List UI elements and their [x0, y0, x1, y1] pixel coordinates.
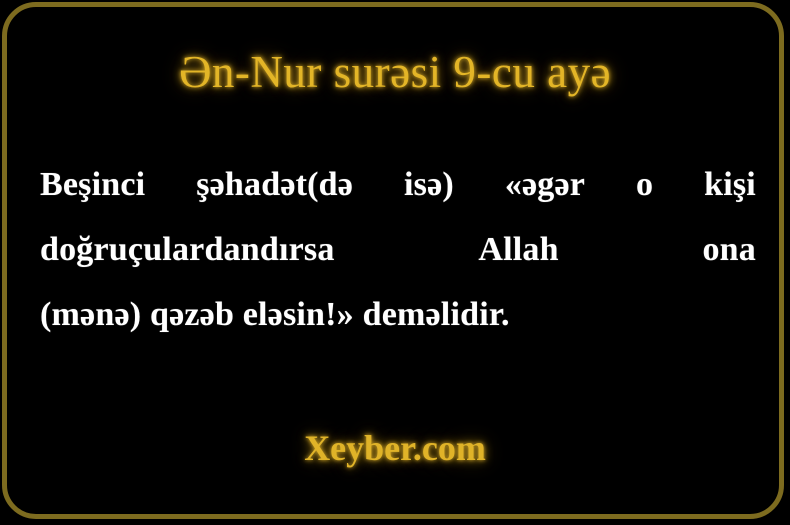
verse-word: isə)	[404, 152, 454, 217]
verse-word: «əgər	[505, 152, 585, 217]
verse-word: doğruçulardandırsa	[40, 217, 335, 282]
verse-line-2: doğruçulardandırsa Allah ona	[40, 217, 756, 282]
verse-word: ona	[702, 217, 756, 282]
verse-word: şəhadət(də	[196, 152, 353, 217]
verse-word: kişi	[704, 152, 756, 217]
site-watermark: Xeyber.com	[0, 426, 790, 470]
verse-word: Allah	[478, 217, 558, 282]
verse-body: Beşinci şəhadət(də isə) «əgər o kişi doğ…	[40, 152, 756, 347]
verse-word: o	[636, 152, 653, 217]
verse-card: Ən-Nur surəsi 9-cu ayə Beşinci şəhadət(d…	[0, 0, 790, 525]
verse-line-3: (mənə) qəzəb eləsin!» deməlidir.	[40, 282, 756, 347]
verse-word: Beşinci	[40, 152, 145, 217]
page-title: Ən-Nur surəsi 9-cu ayə	[0, 46, 790, 98]
verse-line-1: Beşinci şəhadət(də isə) «əgər o kişi	[40, 152, 756, 217]
